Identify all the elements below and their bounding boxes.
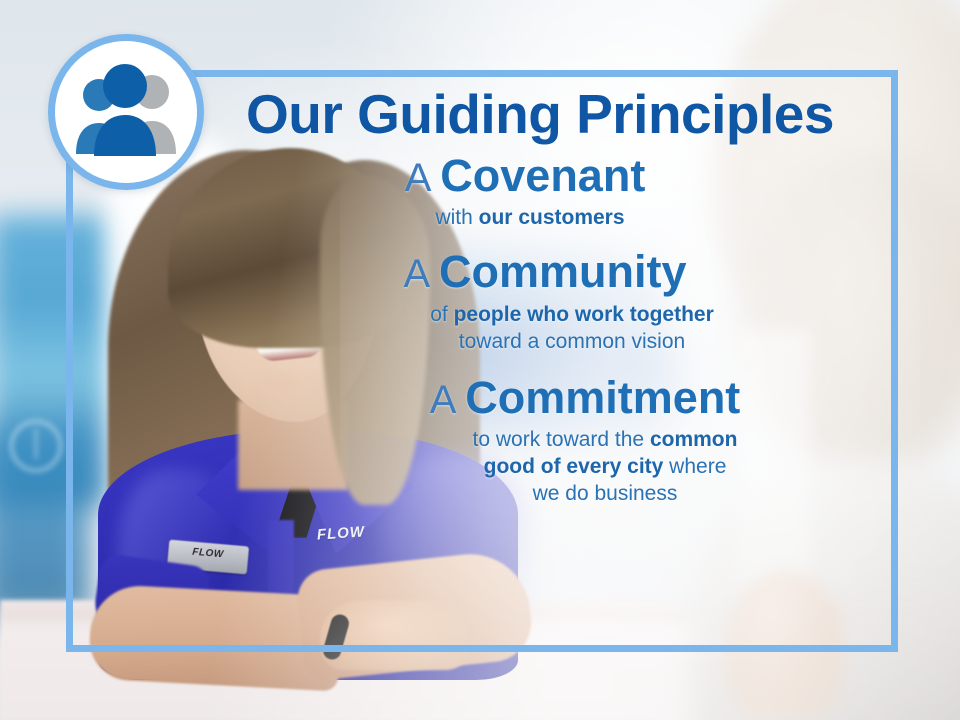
page-title: Our Guiding Principles	[200, 86, 880, 144]
principle-subtext-plain: of	[430, 303, 453, 326]
principle-heading: A Covenant	[200, 152, 880, 201]
principle-article: A	[405, 156, 441, 200]
principle-subtext-bold: people who work together	[454, 303, 714, 326]
principle-commitment: A Commitment to work toward the common g…	[200, 374, 880, 508]
guiding-principles-banner: FLOW FLOW Our Guiding Principles	[0, 0, 960, 720]
principle-subtext: of people who work together toward a com…	[200, 302, 880, 356]
principle-community: A Community of people who work together …	[200, 248, 880, 355]
principle-covenant: A Covenant with our customers	[200, 152, 880, 232]
principle-subtext-line4: we do business	[533, 482, 678, 505]
principle-keyword: Community	[439, 246, 687, 297]
principle-keyword: Covenant	[440, 150, 645, 201]
principle-subtext-plain: with	[435, 206, 478, 229]
principle-article: A	[403, 252, 439, 296]
principle-subtext-bold: our customers	[479, 206, 625, 229]
principle-heading: A Community	[200, 248, 880, 297]
principle-article: A	[430, 378, 466, 422]
principle-subtext-bold: common	[650, 428, 738, 451]
content-block: Our Guiding Principles A Covenant with o…	[200, 86, 880, 512]
principle-subtext-plain: to work toward the	[473, 428, 650, 451]
principle-heading: A Commitment	[200, 374, 880, 423]
principle-keyword: Commitment	[465, 372, 740, 423]
people-group-icon	[66, 58, 186, 166]
principle-subtext: with our customers	[200, 205, 880, 232]
principle-subtext-line2: toward a common vision	[459, 330, 685, 353]
principle-subtext-bold-2: good of every city	[484, 455, 664, 478]
principle-subtext-plain-3: where	[663, 455, 726, 478]
principle-subtext: to work toward the common good of every …	[200, 427, 880, 508]
